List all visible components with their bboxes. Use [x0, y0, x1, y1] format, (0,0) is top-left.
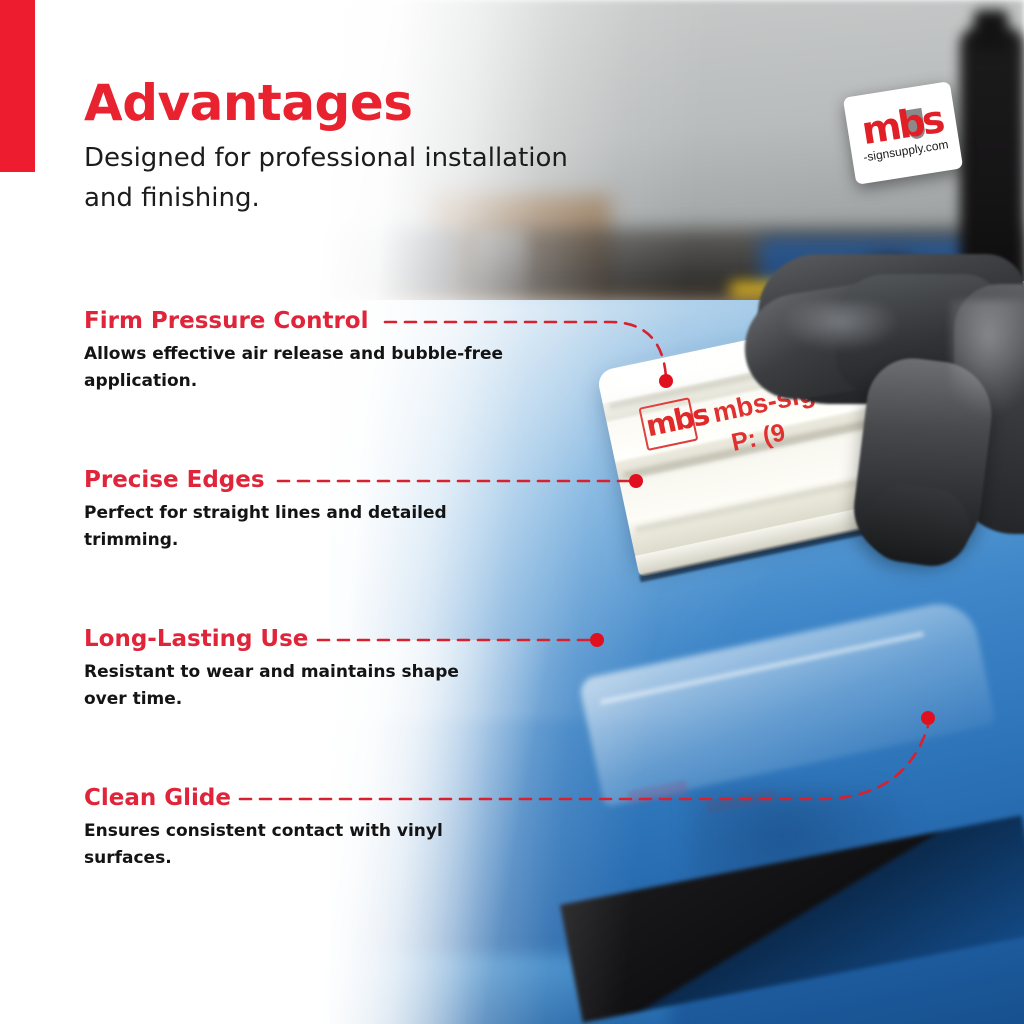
- feature-item-firm-pressure-control: Firm Pressure Control Allows effective a…: [84, 308, 504, 395]
- page-title: Advantages: [84, 74, 413, 132]
- feature-title: Clean Glide: [84, 785, 504, 811]
- red-accent-bar: [0, 0, 35, 172]
- feature-description: Allows effective air release and bubble-…: [84, 341, 504, 395]
- feature-title: Firm Pressure Control: [84, 308, 504, 334]
- feature-item-precise-edges: Precise Edges Perfect for straight lines…: [84, 467, 504, 554]
- feature-title: Long-Lasting Use: [84, 626, 504, 652]
- feature-item-long-lasting-use: Long-Lasting Use Resistant to wear and m…: [84, 626, 504, 713]
- feature-description: Perfect for straight lines and detailed …: [84, 500, 504, 554]
- page-subtitle: Designed for professional installation a…: [84, 138, 604, 218]
- poster-canvas: mbs mbs-sig P: (9 6025 Advantages Design…: [0, 0, 1024, 1024]
- feature-title: Precise Edges: [84, 467, 504, 493]
- feature-description: Resistant to wear and maintains shape ov…: [84, 659, 504, 713]
- feature-description: Ensures consistent contact with vinyl su…: [84, 818, 504, 872]
- mbs-logo-badge: mbs -signsupply.com: [843, 81, 963, 185]
- feature-item-clean-glide: Clean Glide Ensures consistent contact w…: [84, 785, 504, 872]
